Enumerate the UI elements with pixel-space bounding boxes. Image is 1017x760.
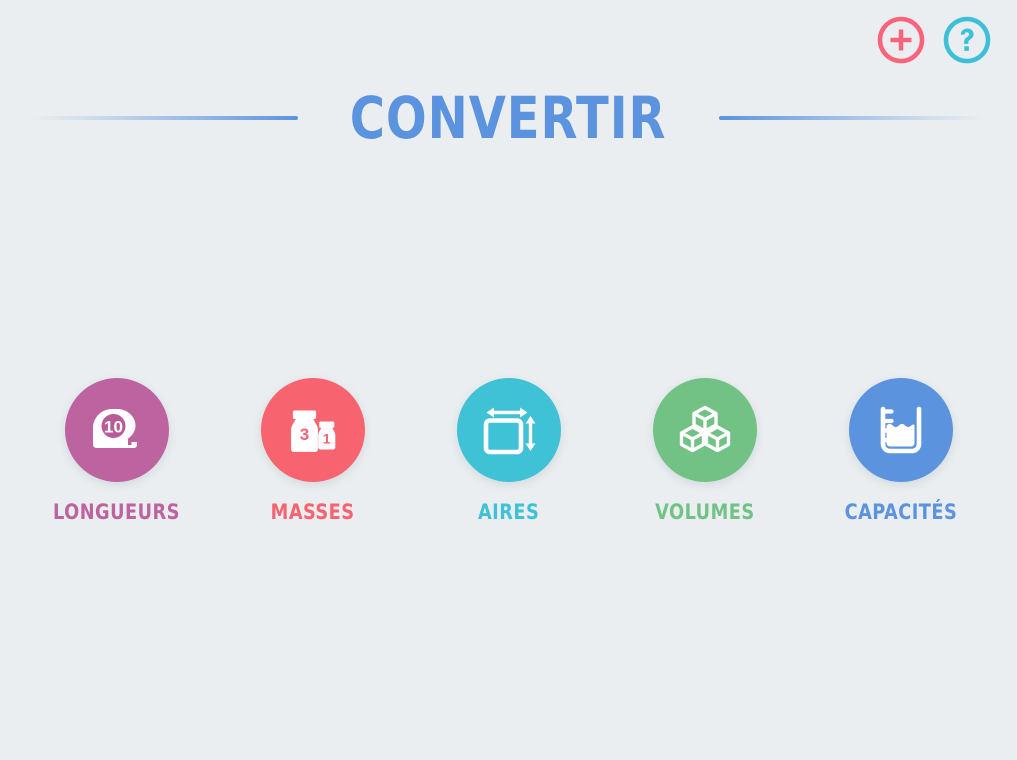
- category-capacites[interactable]: CAPACITÉS: [842, 378, 960, 524]
- page-title: CONVERTIR: [350, 89, 667, 147]
- category-masses-label: MASSES: [271, 500, 355, 524]
- category-masses[interactable]: 3 1 MASSES: [254, 378, 372, 524]
- category-volumes-label: VOLUMES: [655, 500, 754, 524]
- svg-text:1: 1: [322, 431, 330, 447]
- category-aires-label: AIRES: [478, 500, 539, 524]
- question-circle-icon: [941, 14, 993, 66]
- title-rule-left: [30, 116, 298, 120]
- category-aires[interactable]: AIRES: [450, 378, 568, 524]
- svg-text:10: 10: [104, 418, 123, 437]
- topbar: [875, 14, 993, 66]
- category-longueurs-label: LONGUEURS: [53, 500, 180, 524]
- category-capacites-circle[interactable]: [849, 378, 953, 482]
- help-button[interactable]: [941, 14, 993, 66]
- category-longueurs[interactable]: 10 LONGUEURS: [58, 378, 176, 524]
- title-rule-right: [719, 116, 987, 120]
- category-masses-circle[interactable]: 3 1: [261, 378, 365, 482]
- tape-measure-icon: 10: [84, 397, 150, 463]
- svg-text:3: 3: [299, 425, 308, 444]
- title-row: CONVERTIR: [0, 86, 1017, 150]
- plus-circle-icon: [875, 14, 927, 66]
- category-row: 10 LONGUEURS 3 1 MASSES: [0, 378, 1017, 524]
- category-capacites-label: CAPACITÉS: [844, 500, 957, 524]
- category-volumes[interactable]: VOLUMES: [646, 378, 764, 524]
- cubes-icon: [672, 397, 738, 463]
- beaker-icon: [868, 397, 934, 463]
- weights-icon: 3 1: [280, 397, 346, 463]
- add-button[interactable]: [875, 14, 927, 66]
- area-square-icon: [476, 397, 542, 463]
- category-aires-circle[interactable]: [457, 378, 561, 482]
- category-longueurs-circle[interactable]: 10: [65, 378, 169, 482]
- category-volumes-circle[interactable]: [653, 378, 757, 482]
